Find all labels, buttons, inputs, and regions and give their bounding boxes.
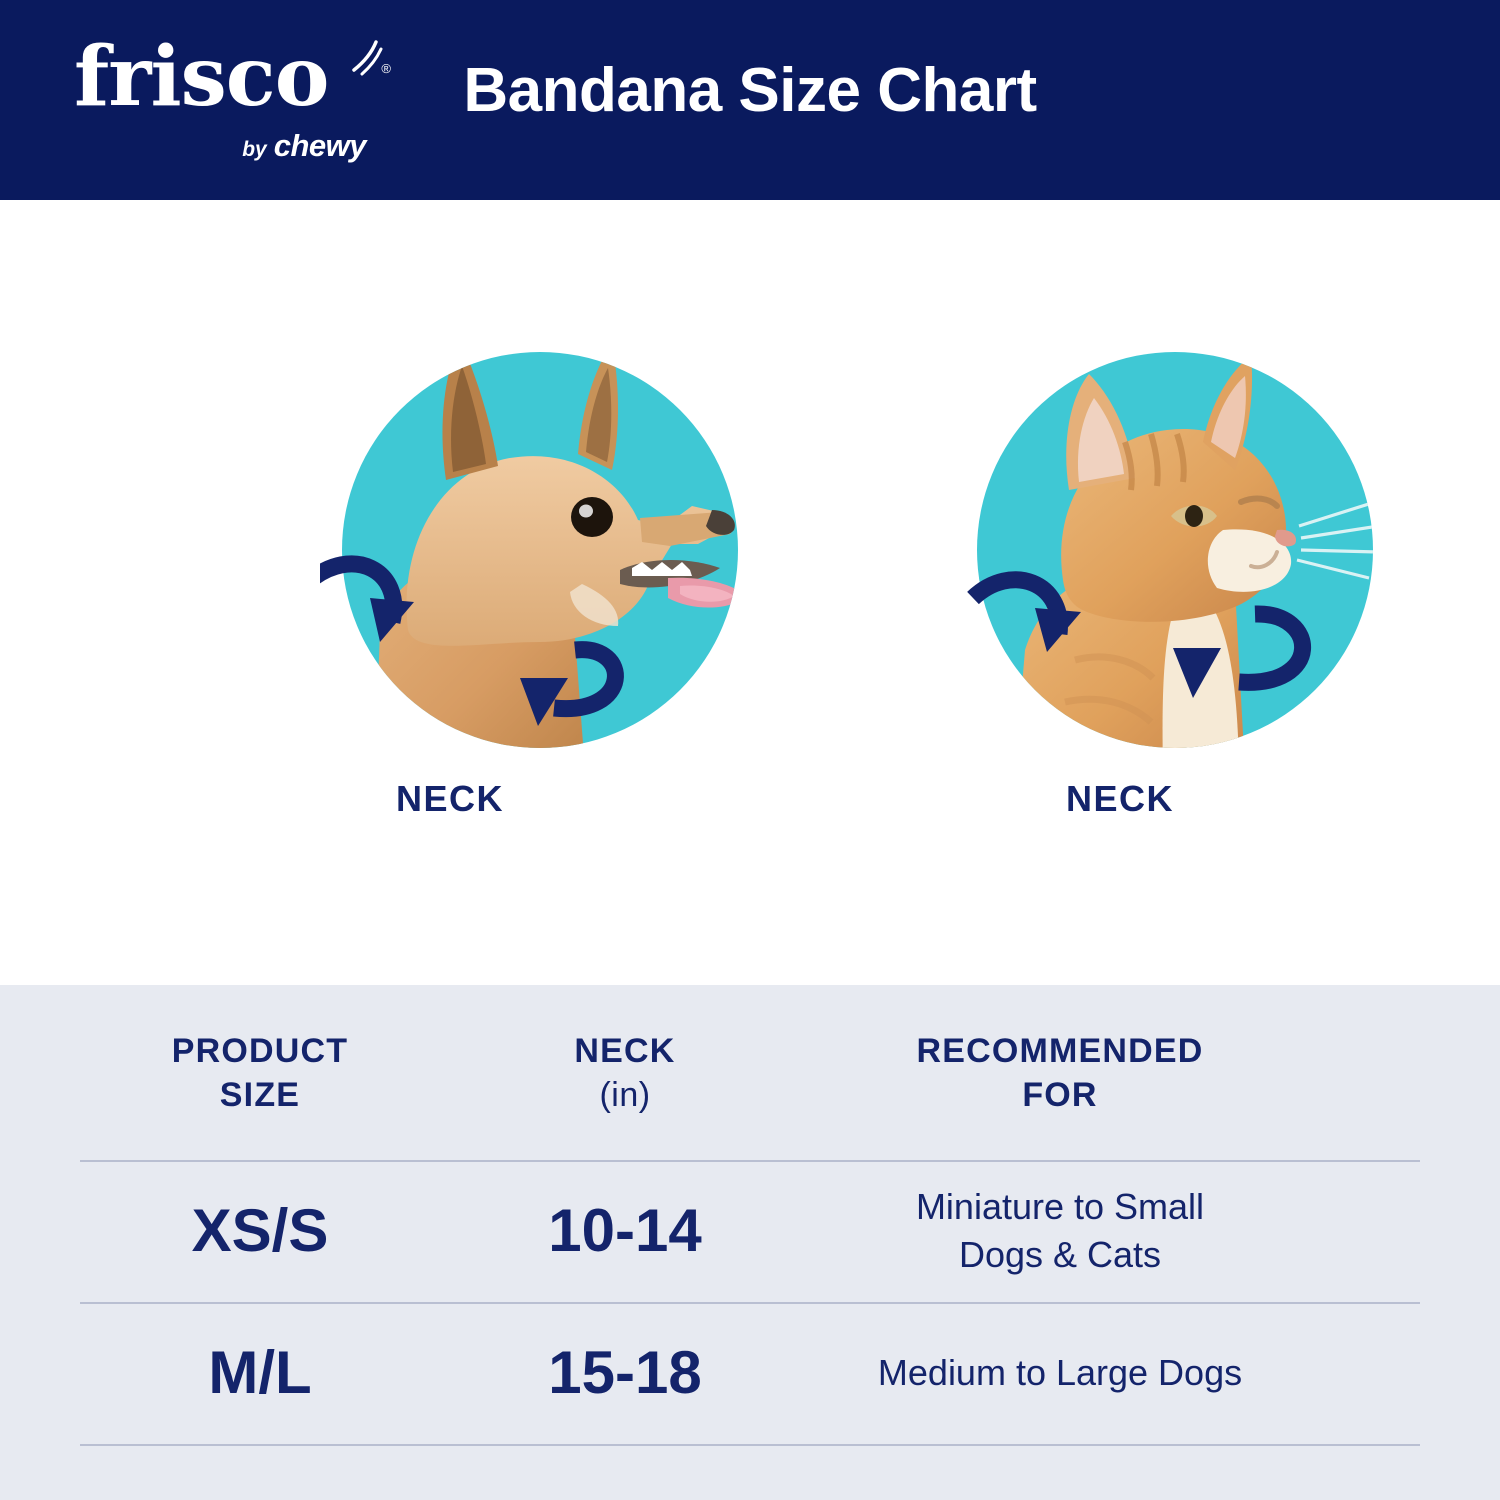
logo-chewy-label: chewy [274,128,366,164]
header-recommended-line1: RECOMMENDED [916,1032,1203,1070]
header-band: frisco ® by chewy Bandana Size Chart [0,0,1500,200]
dog-figure: NECK [320,330,760,860]
value-product-size: M/L [208,1341,311,1405]
cat-figure: NECK [955,330,1395,860]
table-divider [80,1160,1420,1162]
logo-by-label: by [242,138,267,162]
header-neck-line1: NECK [574,1032,675,1070]
cat-neck-arrow-right [1239,614,1303,682]
table-row: XS/S 10-14 Miniature to Small Dogs & Cat… [0,1160,1500,1302]
cat-neck-label: NECK [900,778,1340,820]
value-recommended: Miniature to Small Dogs & Cats [916,1183,1204,1279]
value-neck: 15-18 [548,1341,701,1405]
value-recommended-line1: Medium to Large Dogs [878,1352,1242,1393]
bandana-size-chart-page: frisco ® by chewy Bandana Size Chart [0,0,1500,1500]
illustration-section: NECK [0,200,1500,985]
header-cell-recommended: RECOMMENDED FOR [780,985,1340,1160]
cat-illustration [955,330,1395,770]
page-title: Bandana Size Chart [0,55,1500,126]
value-product-size: XS/S [192,1199,329,1263]
cell-neck: 10-14 [470,1160,780,1302]
header-cell-neck: NECK (in) [470,985,780,1160]
header-product-size-text: PRODUCT SIZE [172,1029,349,1117]
size-table: PRODUCT SIZE NECK (in) RECOMMENDED FOR [0,985,1500,1444]
table-header-row: PRODUCT SIZE NECK (in) RECOMMENDED FOR [0,985,1500,1160]
size-table-panel: PRODUCT SIZE NECK (in) RECOMMENDED FOR [0,985,1500,1500]
header-product-size-line1: PRODUCT [172,1032,349,1070]
header-neck-text: NECK (in) [574,1029,675,1117]
cell-recommended: Miniature to Small Dogs & Cats [780,1160,1340,1302]
cat-circle-wrap [955,330,1395,770]
logo-subtitle: by chewy [242,128,366,164]
header-cell-product-size: PRODUCT SIZE [50,985,470,1160]
cell-recommended: Medium to Large Dogs [780,1302,1340,1444]
table-row: M/L 15-18 Medium to Large Dogs [0,1302,1500,1444]
cell-product-size: XS/S [50,1160,470,1302]
dog-circle-wrap [320,330,760,770]
dog-neck-label: NECK [230,778,670,820]
header-product-size-line2: SIZE [220,1076,300,1114]
value-neck: 10-14 [548,1199,701,1263]
header-neck-unit: (in) [574,1073,675,1117]
header-recommended-line2: FOR [1022,1076,1097,1114]
header-recommended-text: RECOMMENDED FOR [916,1029,1203,1117]
cell-neck: 15-18 [470,1302,780,1444]
cell-product-size: M/L [50,1302,470,1444]
value-recommended-line2: Dogs & Cats [959,1234,1161,1275]
value-recommended: Medium to Large Dogs [878,1349,1242,1397]
table-divider [80,1444,1420,1446]
dog-illustration [320,330,760,770]
value-recommended-line1: Miniature to Small [916,1186,1204,1227]
table-divider [80,1302,1420,1304]
